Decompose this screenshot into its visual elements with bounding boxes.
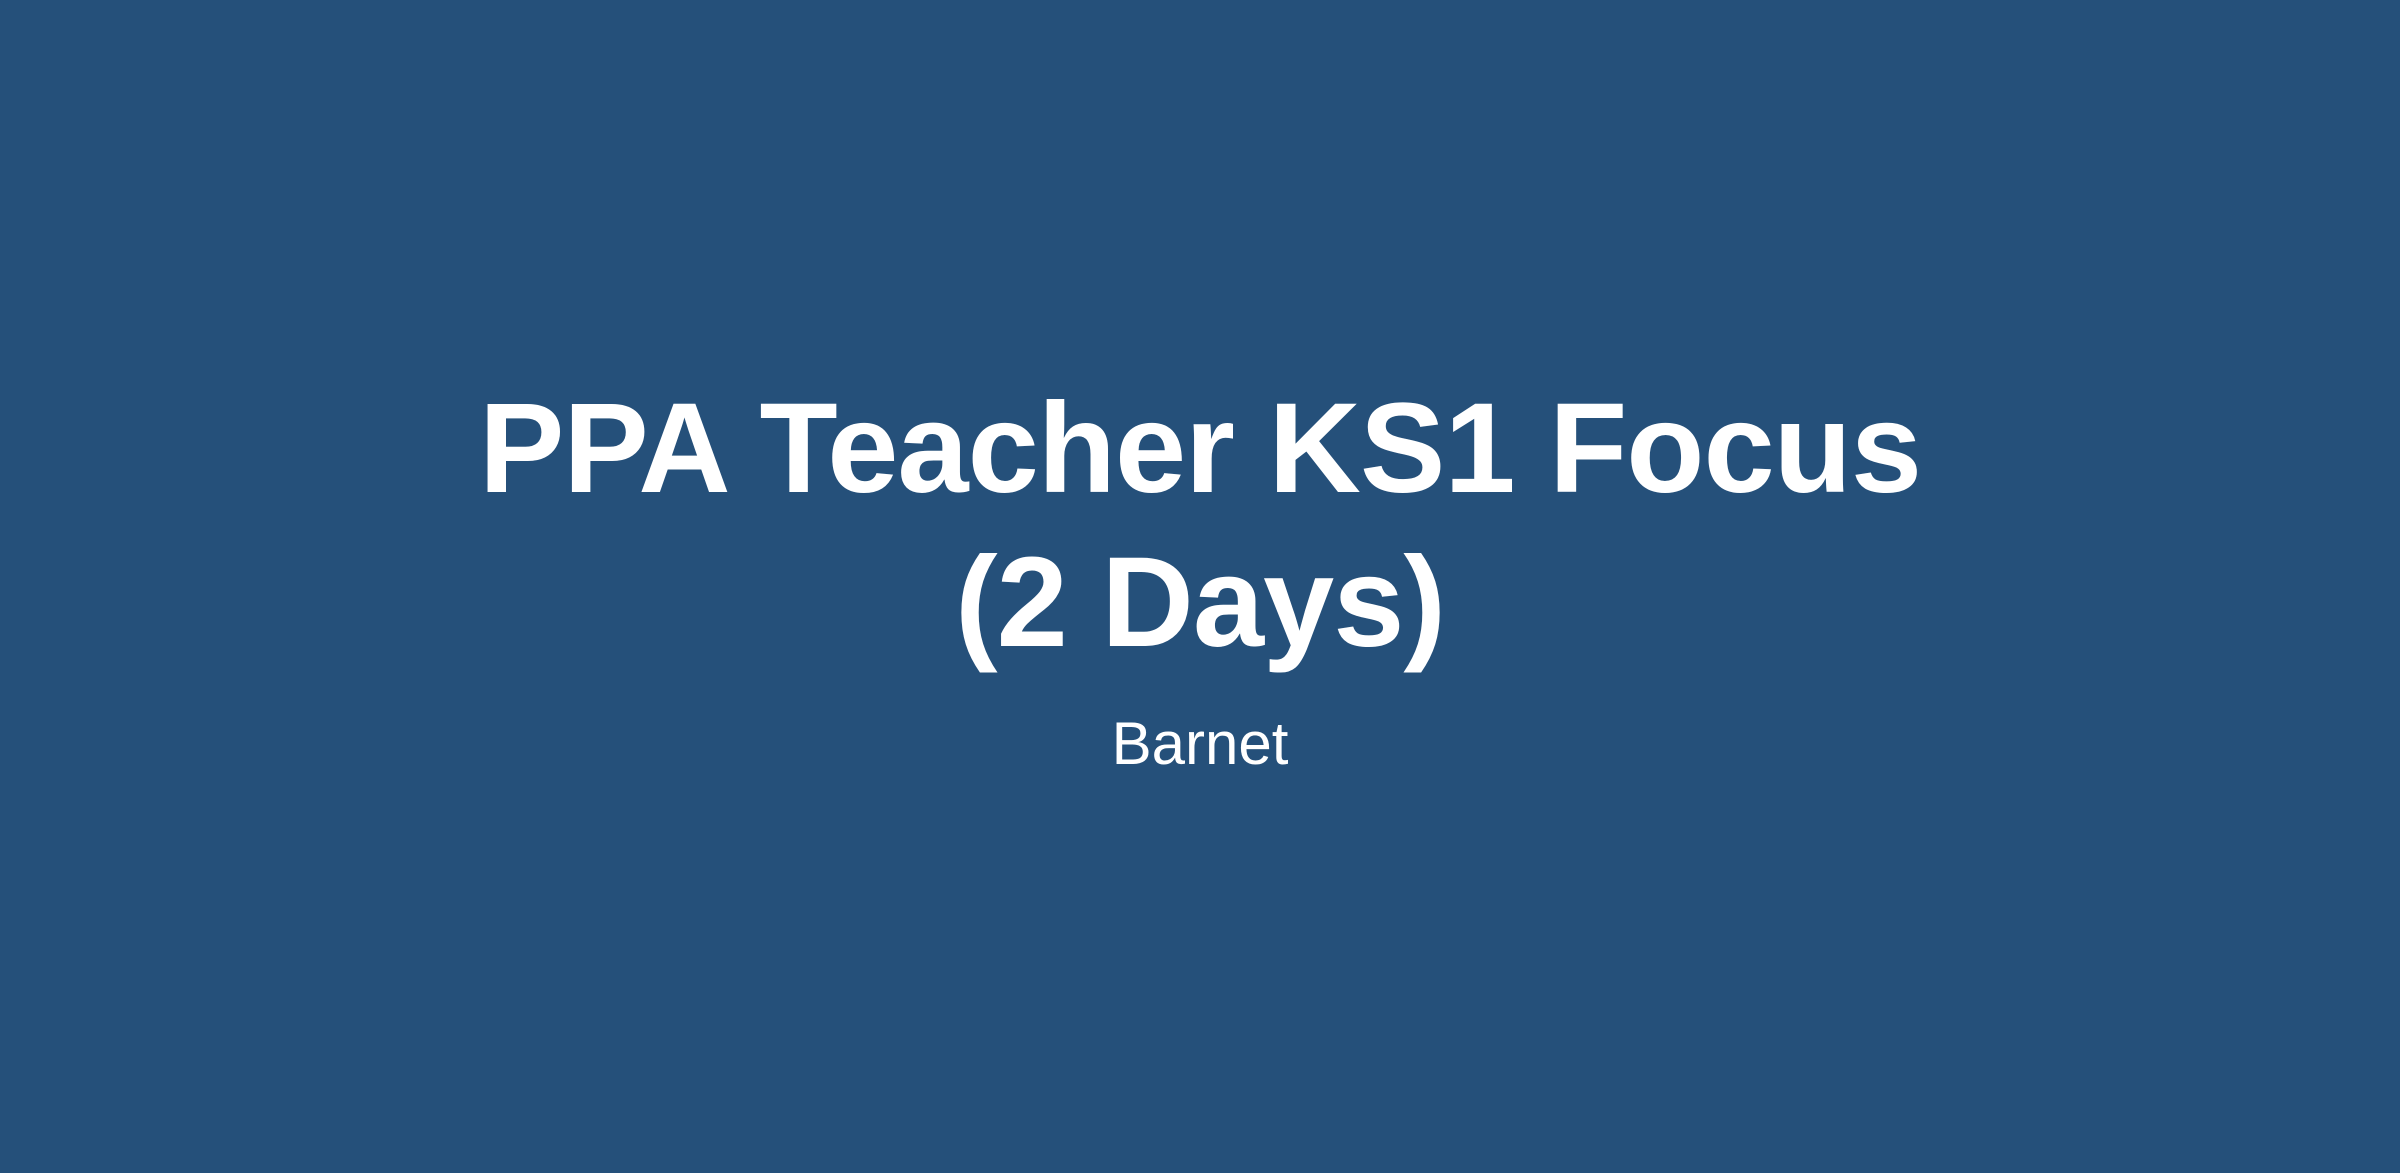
page-title: PPA Teacher KS1 Focus (2 Days): [420, 372, 1980, 680]
card-subtitle-location: Barnet: [420, 708, 1980, 780]
share-card: PPA Teacher KS1 Focus (2 Days) Barnet: [0, 0, 2400, 1173]
card-content: PPA Teacher KS1 Focus (2 Days) Barnet: [420, 372, 1980, 780]
